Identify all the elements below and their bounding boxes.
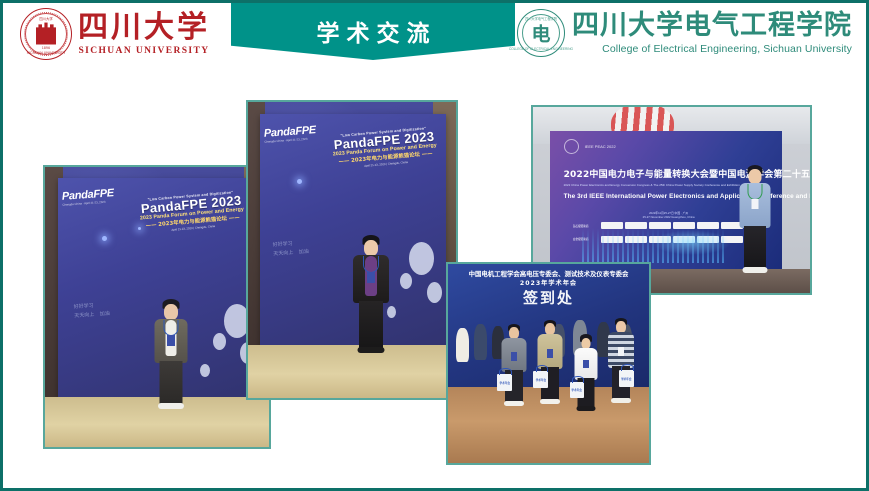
person-badge [547, 349, 553, 358]
person-standing [144, 299, 198, 433]
person-trousers [359, 301, 383, 349]
slide-canvas: 四川大学 1896 SICHUAN UNIVERSITY 四川大学 SICHUA… [0, 0, 869, 491]
seal-gate-glyph [36, 23, 56, 45]
college-name-en: College of Electrical Engineering, Sichu… [572, 44, 852, 55]
person-head [749, 169, 762, 184]
light-spark [297, 179, 302, 184]
photo-scene: PandaFPE Chengdu China · April 21-23, 20… [248, 102, 456, 398]
person-lanyard [163, 320, 178, 336]
ieee-peac-logo-text: IEEE PEAC 2022 [585, 144, 616, 149]
person-lanyard [363, 256, 379, 273]
person-shoes [504, 401, 524, 406]
sichuan-university-name-cn: 四川大学 [78, 12, 210, 44]
section-title-text: 学术交流 [310, 3, 437, 48]
section-title-banner: 学术交流 [231, 3, 515, 60]
person-badge [618, 347, 624, 356]
backdrop-signatures: 好好学习 天天向上 加油 [273, 239, 310, 258]
person-shoes [158, 403, 184, 409]
crowd-person [456, 328, 469, 362]
panda-paw-toe [213, 333, 226, 350]
sichuan-university-name-en: SICHUAN UNIVERSITY [78, 47, 209, 57]
backdrop-signatures: 好好学习 天天向上 加油 [74, 301, 111, 320]
conference-tote-bag: 学术年会 [497, 374, 512, 391]
registration-title-line1: 中国电机工程学会高电压专委会、测试技术及仪表专委会 [469, 269, 629, 278]
panda-paw-pad [409, 242, 434, 275]
person-trousers [159, 361, 182, 405]
registration-title-line3: 签到处 [523, 287, 574, 308]
organizer-logo-icon [564, 139, 579, 154]
backdrop-glow [652, 230, 731, 255]
person-badge [752, 199, 759, 209]
panda-paw-toe [400, 273, 412, 289]
person-standing [732, 165, 778, 280]
slide-header: 四川大学 1896 SICHUAN UNIVERSITY 四川大学 SICHUA… [3, 3, 866, 75]
seal-year-text: 1896 [42, 46, 50, 50]
person-shoes [576, 406, 595, 411]
college-of-electrical-engineering-logo: 四川大学电气工程学院 电 COLLEGE OF ELECTRICAL ENGIN… [517, 9, 852, 57]
person-trousers [744, 226, 766, 269]
college-seal-glyph: 电 [531, 20, 550, 47]
photo-pandafpe-student-2[interactable]: PandaFPE Chengdu China · April 21-23, 20… [246, 100, 458, 400]
person-head [364, 240, 378, 256]
conference-tote-bag: 学术年会 [533, 371, 548, 388]
person-lanyard [748, 184, 763, 200]
photo-pandafpe-student-1[interactable]: PandaFPE Chengdu China · April 21-23, 20… [43, 165, 271, 449]
tote-bag-text: 学术年会 [533, 378, 548, 382]
person-standing [344, 235, 398, 383]
conference-tote-bag: 学术年会 [619, 370, 634, 387]
college-wordmark: 四川大学电气工程学院 College of Electrical Enginee… [572, 12, 852, 55]
person-shoes [357, 347, 384, 353]
person-student-1: 学术年会 [496, 324, 532, 455]
tote-bag-text: 学术年会 [497, 381, 512, 385]
ieee-date-en: 25-27 November 2022 Guangzhou, China [643, 215, 695, 219]
sichuan-university-seal-icon: 四川大学 1896 SICHUAN UNIVERSITY [20, 8, 72, 60]
pandafpe-title-block: "Low Carbon Power System and Digitizatio… [133, 189, 251, 235]
college-seal-icon: 四川大学电气工程学院 电 COLLEGE OF ELECTRICAL ENGIN… [517, 9, 565, 57]
person-student-4: 学术年会 [603, 318, 639, 455]
person-badge [583, 360, 589, 368]
panda-paw-toe [200, 364, 210, 377]
sichuan-university-wordmark: 四川大学 SICHUAN UNIVERSITY [78, 12, 210, 56]
conference-tote-bag: 学术年会 [570, 382, 584, 398]
person-shoes [540, 399, 560, 404]
person-student-3: 学术年会 [569, 334, 603, 453]
person-badge [367, 272, 375, 283]
panda-paw-toe [427, 282, 442, 303]
photo-csee-registration-group[interactable]: 中国电机工程学会高电压专委会、测试技术及仪表专委会 2023年学术年会 签到处 [446, 262, 651, 465]
ieee-date-text: 2022年11月25-27日 中国 · 广州 25-27 November 20… [643, 211, 695, 219]
pandafpe-title-block: "Low Carbon Power System and Digitizatio… [329, 126, 439, 171]
college-seal-bottom-text: COLLEGE OF ELECTRICAL ENGINEERING [509, 47, 573, 51]
college-name-cn: 四川大学电气工程学院 [572, 12, 852, 40]
tote-bag-text: 学术年会 [570, 388, 584, 392]
photo-scene: 中国电机工程学会高电压专委会、测试技术及仪表专委会 2023年学术年会 签到处 [448, 264, 649, 463]
pandafpe-corner-logo: PandaFPE Chengdu China · April 21-23, 20… [62, 187, 115, 207]
person-shoes [743, 267, 768, 273]
person-head [164, 304, 178, 320]
seal-bottom-text: SICHUAN UNIVERSITY [27, 51, 66, 55]
ieee-title-cn-sub: 2022 China Power Electronics and Energy … [564, 183, 740, 187]
light-spark [102, 236, 107, 241]
photo-scene: PandaFPE Chengdu China · April 21-23, 20… [45, 167, 269, 447]
person-badge [511, 352, 517, 361]
ieee-peac-logo-row: IEEE PEAC 2022 [564, 139, 616, 154]
registration-title-line2: 2023年学术年会 [520, 278, 577, 287]
sichuan-university-logo: 四川大学 1896 SICHUAN UNIVERSITY 四川大学 SICHUA… [20, 8, 210, 60]
person-student-2: 学术年会 [532, 320, 568, 455]
person-badge [167, 335, 175, 346]
person-shoes [611, 398, 631, 403]
crowd-person [474, 324, 487, 360]
tote-bag-text: 学术年会 [619, 377, 634, 381]
pandafpe-corner-logo: PandaFPE Chengdu China · April 21-23, 20… [264, 124, 317, 144]
seal-top-text: 四川大学 [39, 16, 53, 21]
